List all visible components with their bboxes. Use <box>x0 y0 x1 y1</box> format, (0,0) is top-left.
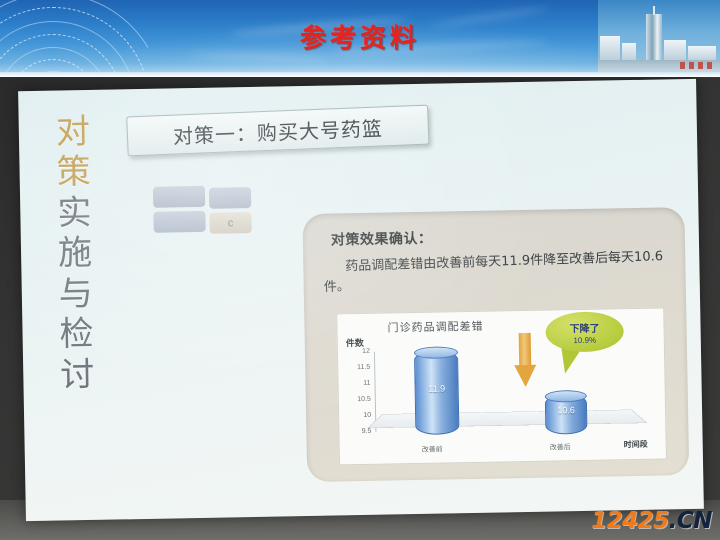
vtitle-char-5: 与 <box>58 274 93 315</box>
arrow-head <box>514 365 536 387</box>
y-tick: 11 <box>348 380 370 387</box>
vtitle-char-7: 讨 <box>60 355 95 396</box>
y-tick: 12 <box>348 348 370 355</box>
slide-vertical-title: 对 策 实 施 与 检 讨 <box>47 112 104 396</box>
vtitle-char-2: 策 <box>56 152 91 193</box>
bar-value-label: 11.9 <box>416 383 458 394</box>
x-tick-label: 改善前 <box>422 445 443 455</box>
panel-body-text: 药品调配差错由改善前每天11.9件降至改善后每天10.6件。 <box>323 247 670 297</box>
vtitle-char-4: 施 <box>58 233 93 274</box>
presentation-slide: 对 策 实 施 与 检 讨 对策一：购买大号药篮 c 对策效果确认： 药品调配差… <box>18 79 704 521</box>
page-banner: 参考资料 <box>0 0 720 72</box>
decrease-callout-badge: 下降了 10.9% <box>545 311 624 352</box>
bar-improvement-after: 10.6 <box>545 394 588 435</box>
bar-improvement-before: 11.9 <box>414 350 460 435</box>
effect-confirmation-panel: 对策效果确认： 药品调配差错由改善前每天11.9件降至改善后每天10.6件。 门… <box>302 207 689 482</box>
callout-line-1: 下降了 <box>569 319 599 335</box>
chart-x-axis-label: 时间段 <box>624 439 648 450</box>
arrow-shaft <box>519 333 532 367</box>
y-tick: 10 <box>349 412 371 419</box>
chart-title: 门诊药品调配差错 <box>387 318 483 336</box>
key-block-2 <box>209 187 251 209</box>
watermark-number: 12425 <box>591 508 669 534</box>
y-tick: 11.5 <box>348 364 370 371</box>
slide-headline: 对策一：购买大号药篮 <box>126 105 429 157</box>
vtitle-char-1: 对 <box>56 112 91 153</box>
bar-top-ellipse <box>414 346 458 359</box>
site-watermark: 12425.CN <box>591 508 712 534</box>
bar-value-label: 10.6 <box>546 405 586 416</box>
floor-plane <box>367 410 647 429</box>
vtitle-char-3: 实 <box>57 193 92 234</box>
x-tick-label: 改善后 <box>550 442 571 452</box>
down-arrow-icon <box>514 333 537 391</box>
key-block-3 <box>153 211 205 233</box>
decorative-key-blocks: c <box>153 185 252 237</box>
y-tick: 9.5 <box>349 428 371 435</box>
callout-line-2: 10.9% <box>573 335 596 344</box>
banner-title: 参考资料 <box>0 0 720 72</box>
key-block-4-letter-c: c <box>209 212 251 234</box>
vtitle-char-6: 检 <box>59 314 94 355</box>
bar-chart: 门诊药品调配差错 件数 12 11.5 11 10.5 10 9.5 11.9 <box>336 307 667 465</box>
watermark-tld: .CN <box>669 508 712 534</box>
bar-top-ellipse <box>545 390 587 403</box>
panel-heading: 对策效果确认： <box>331 228 433 250</box>
projected-slide-photo: 对 策 实 施 与 检 讨 对策一：购买大号药篮 c 对策效果确认： 药品调配差… <box>0 77 720 540</box>
y-tick: 10.5 <box>349 396 371 403</box>
key-block-1 <box>153 186 205 208</box>
